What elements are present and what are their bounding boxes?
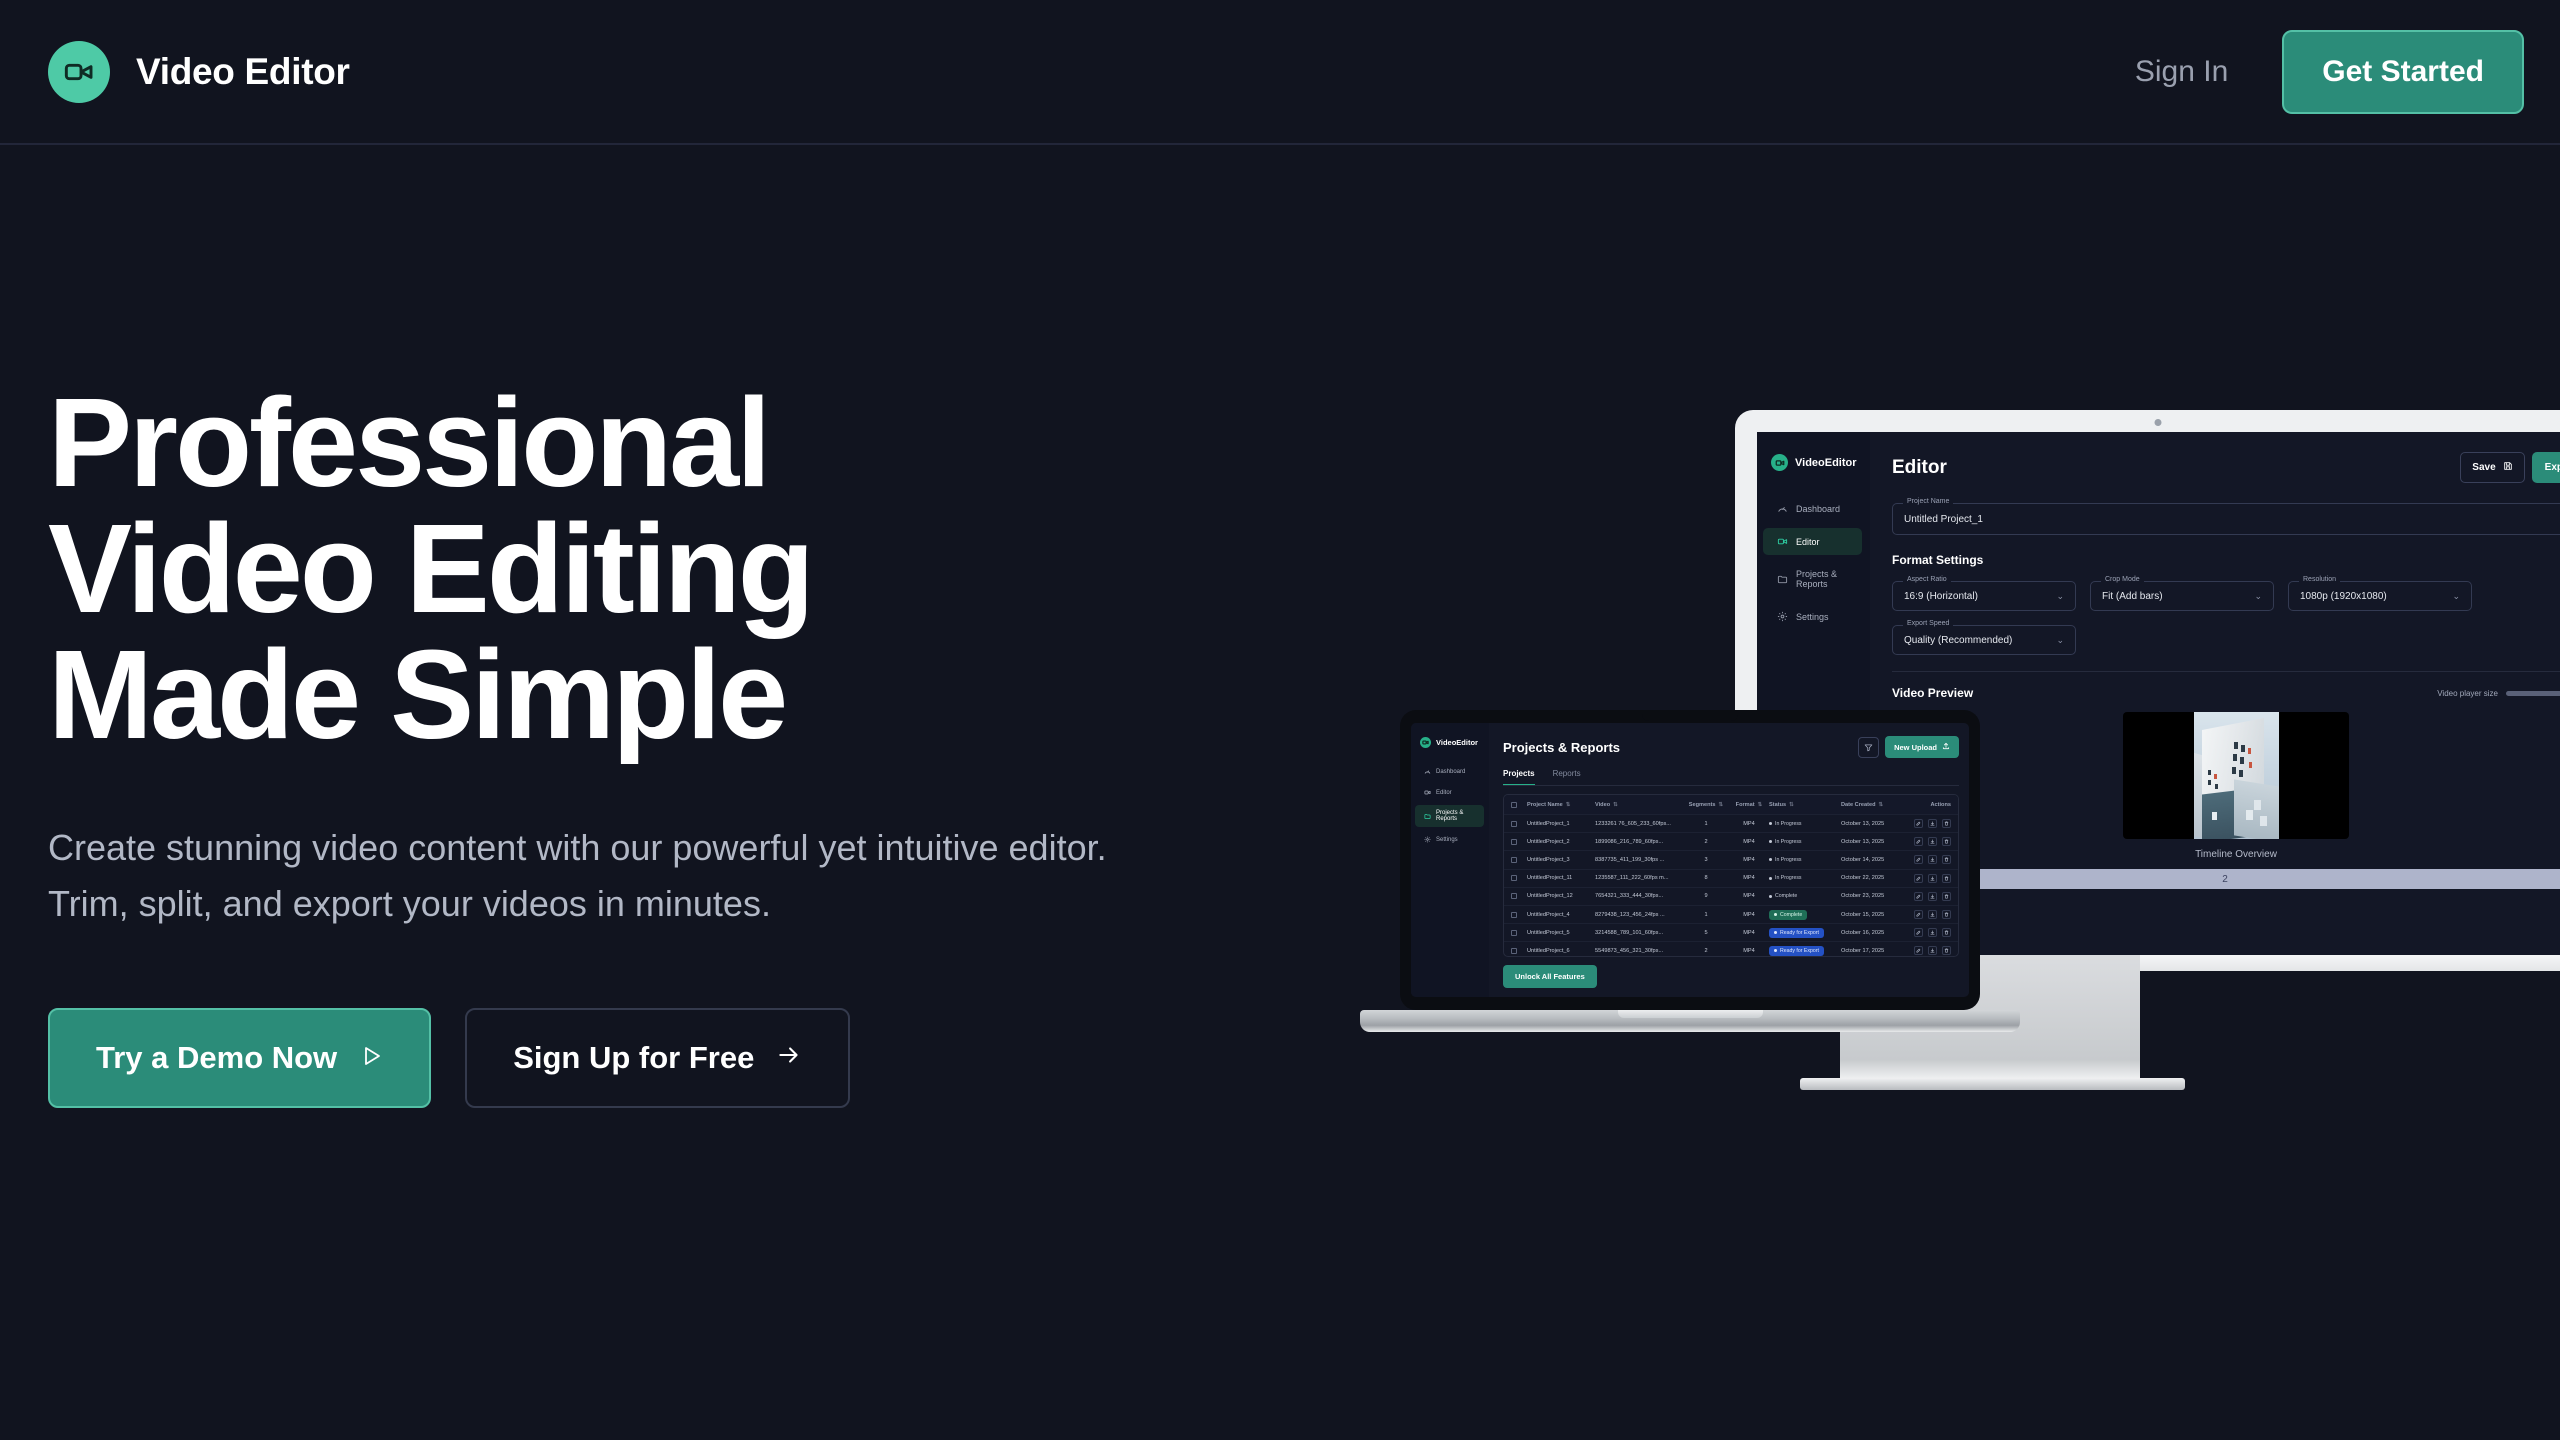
cell-video: 5549873_456_321_30fps... bbox=[1595, 948, 1683, 954]
cell-segments: 3 bbox=[1683, 857, 1729, 863]
laptop-notch bbox=[1642, 710, 1738, 721]
laptop-app-brand-label: VideoEditor bbox=[1436, 738, 1478, 747]
cell-actions bbox=[1901, 819, 1951, 828]
laptop-tabs: Projects Reports bbox=[1503, 769, 1959, 786]
cell-project-name: UntitledProject_11 bbox=[1527, 875, 1595, 881]
delete-icon[interactable] bbox=[1942, 819, 1951, 828]
delete-icon[interactable] bbox=[1942, 855, 1951, 864]
cell-segments: 2 bbox=[1683, 948, 1729, 954]
hero-subtitle: Create stunning video content with our p… bbox=[48, 820, 1108, 932]
gauge-icon bbox=[1777, 503, 1788, 514]
column-project-name[interactable]: Project Name⇅ bbox=[1527, 802, 1595, 808]
aspect-ratio-select[interactable]: Aspect Ratio 16:9 (Horizontal) ⌄ bbox=[1892, 581, 2076, 611]
gear-icon bbox=[1424, 836, 1431, 843]
row-checkbox[interactable] bbox=[1511, 948, 1527, 954]
table-row[interactable]: UntitledProject_65549873_456_321_30fps..… bbox=[1504, 942, 1958, 957]
cell-project-name: UntitledProject_1 bbox=[1527, 821, 1595, 827]
cell-status: Ready for Export bbox=[1769, 946, 1841, 956]
window bbox=[2212, 812, 2217, 820]
upload-icon bbox=[1942, 742, 1950, 752]
cell-date-created: October 13, 2025 bbox=[1841, 839, 1901, 845]
window-accent bbox=[2249, 762, 2252, 768]
status-badge: Complete bbox=[1769, 891, 1802, 901]
cell-actions bbox=[1901, 928, 1951, 937]
export-speed-value: Quality (Recommended) bbox=[1904, 635, 2012, 646]
try-demo-button[interactable]: Try a Demo Now bbox=[48, 1008, 431, 1108]
brand[interactable]: Video Editor bbox=[48, 41, 350, 103]
window bbox=[2234, 742, 2238, 749]
window bbox=[2254, 800, 2261, 810]
hero-cta-group: Try a Demo Now Sign Up for Free bbox=[48, 1008, 1128, 1108]
folder-icon bbox=[1777, 574, 1788, 585]
window bbox=[2232, 767, 2236, 774]
cell-date-created: October 14, 2025 bbox=[1841, 857, 1901, 863]
window bbox=[2240, 757, 2244, 764]
divider bbox=[1892, 671, 2560, 672]
sidebar-item-dashboard[interactable]: Dashboard bbox=[1763, 495, 1862, 522]
chevron-down-icon: ⌄ bbox=[2056, 591, 2064, 602]
header-actions: Sign In Get Started bbox=[2135, 30, 2524, 114]
delete-icon[interactable] bbox=[1942, 928, 1951, 937]
table-row[interactable]: UntitledProject_11233261 76_605_233_60fp… bbox=[1504, 815, 1958, 833]
cell-format: MP4 bbox=[1729, 893, 1769, 899]
save-button[interactable]: Save bbox=[2460, 452, 2524, 483]
video-camera-icon bbox=[1777, 536, 1788, 547]
delete-icon[interactable] bbox=[1942, 910, 1951, 919]
sidebar-label: Dashboard bbox=[1796, 504, 1840, 514]
sort-icon: ⇅ bbox=[1613, 802, 1618, 808]
cell-segments: 2 bbox=[1683, 839, 1729, 845]
save-label: Save bbox=[2472, 462, 2495, 473]
cell-date-created: October 15, 2025 bbox=[1841, 912, 1901, 918]
webcam-icon bbox=[2154, 419, 2161, 426]
laptop-sidebar: VideoEditor Dashboard Editor bbox=[1411, 723, 1489, 997]
cell-status: In Progress bbox=[1769, 819, 1841, 829]
sidebar-item-settings[interactable]: Settings bbox=[1415, 831, 1484, 848]
laptop-page-title: Projects & Reports bbox=[1503, 740, 1620, 755]
sidebar-item-projects-reports[interactable]: Projects & Reports bbox=[1415, 805, 1484, 827]
cell-segments: 8 bbox=[1683, 875, 1729, 881]
try-demo-label: Try a Demo Now bbox=[96, 1040, 337, 1076]
download-icon[interactable] bbox=[1928, 928, 1937, 937]
page-title: Professional Video Editing Made Simple bbox=[48, 380, 1128, 758]
format-settings-title: Format Settings bbox=[1892, 553, 2560, 567]
video-player-size-control[interactable]: Video player size bbox=[2437, 689, 2560, 698]
format-settings-row-2: Export Speed Quality (Recommended) ⌄ bbox=[1892, 625, 2560, 655]
status-badge: In Progress bbox=[1769, 873, 1807, 883]
cell-status: Complete bbox=[1769, 891, 1841, 901]
sort-icon: ⇅ bbox=[1719, 802, 1724, 808]
cell-date-created: October 17, 2025 bbox=[1841, 948, 1901, 954]
edit-icon[interactable] bbox=[1914, 855, 1923, 864]
sidebar-label: Dashboard bbox=[1436, 769, 1465, 775]
gauge-icon bbox=[1424, 768, 1431, 775]
cell-format: MP4 bbox=[1729, 839, 1769, 845]
window bbox=[2233, 754, 2237, 761]
table-row[interactable]: UntitledProject_48279438_123_456_24fps .… bbox=[1504, 906, 1958, 924]
tab-underline bbox=[1503, 785, 1959, 786]
format-settings-row-1: Aspect Ratio 16:9 (Horizontal) ⌄ Crop Mo… bbox=[1892, 581, 2560, 611]
cell-status: In Progress bbox=[1769, 873, 1841, 883]
laptop-header: Projects & Reports New Upload bbox=[1503, 736, 1959, 758]
export-speed-select[interactable]: Export Speed Quality (Recommended) ⌄ bbox=[1892, 625, 2076, 655]
video-preview-header: Video Preview Video player size bbox=[1892, 686, 2560, 700]
monitor-header: Editor Save Exp bbox=[1892, 452, 2560, 483]
download-icon[interactable] bbox=[1928, 892, 1937, 901]
cell-date-created: October 23, 2025 bbox=[1841, 893, 1901, 899]
select-all-checkbox[interactable] bbox=[1511, 802, 1527, 808]
video-camera-icon bbox=[1424, 789, 1431, 796]
laptop-lid: VideoEditor Dashboard Editor bbox=[1400, 710, 1980, 1010]
cell-project-name: UntitledProject_4 bbox=[1527, 912, 1595, 918]
row-checkbox[interactable] bbox=[1511, 821, 1527, 827]
preview-thumbnail-building bbox=[2194, 712, 2279, 839]
sign-up-label: Sign Up for Free bbox=[513, 1040, 754, 1076]
download-icon[interactable] bbox=[1928, 855, 1937, 864]
edit-icon[interactable] bbox=[1914, 837, 1923, 846]
laptop-header-actions: New Upload bbox=[1858, 736, 1959, 758]
window bbox=[2239, 770, 2243, 777]
cell-segments: 5 bbox=[1683, 930, 1729, 936]
cell-status: In Progress bbox=[1769, 837, 1841, 847]
cell-date-created: October 13, 2025 bbox=[1841, 821, 1901, 827]
export-button[interactable]: Exp bbox=[2532, 452, 2560, 483]
folder-icon bbox=[1424, 813, 1431, 820]
laptop-screen: VideoEditor Dashboard Editor bbox=[1411, 723, 1969, 997]
cell-status: Complete bbox=[1769, 910, 1841, 920]
sort-icon: ⇅ bbox=[1566, 802, 1571, 808]
status-badge: Ready for Export bbox=[1769, 928, 1824, 938]
column-actions: Actions bbox=[1901, 802, 1951, 808]
sidebar-item-projects-reports[interactable]: Projects & Reports bbox=[1763, 561, 1862, 597]
video-camera-icon bbox=[1771, 454, 1788, 471]
sign-up-button[interactable]: Sign Up for Free bbox=[465, 1008, 850, 1108]
status-badge: Ready for Export bbox=[1769, 946, 1824, 956]
edit-icon[interactable] bbox=[1914, 946, 1923, 955]
video-preview-title: Video Preview bbox=[1892, 686, 1973, 700]
status-badge: In Progress bbox=[1769, 819, 1807, 829]
cell-video: 1235587_111_222_60fps m... bbox=[1595, 875, 1683, 881]
row-checkbox[interactable] bbox=[1511, 912, 1527, 918]
sidebar-label: Projects & Reports bbox=[1436, 810, 1484, 822]
window-accent bbox=[2248, 748, 2251, 754]
row-checkbox[interactable] bbox=[1511, 930, 1527, 936]
delete-icon[interactable] bbox=[1942, 892, 1951, 901]
cell-format: MP4 bbox=[1729, 821, 1769, 827]
get-started-button[interactable]: Get Started bbox=[2282, 30, 2524, 114]
window bbox=[2208, 770, 2211, 775]
laptop-mockup: VideoEditor Dashboard Editor bbox=[1360, 710, 2020, 1050]
laptop-main-panel: Projects & Reports New Upload bbox=[1489, 723, 1969, 997]
window-accent bbox=[2214, 774, 2217, 779]
download-icon[interactable] bbox=[1928, 946, 1937, 955]
laptop-trackpad-notch bbox=[1618, 1010, 1763, 1018]
sidebar-item-dashboard[interactable]: Dashboard bbox=[1415, 763, 1484, 780]
sign-in-link[interactable]: Sign In bbox=[2135, 55, 2228, 89]
sort-icon: ⇅ bbox=[1879, 802, 1884, 808]
video-camera-icon bbox=[1420, 737, 1431, 748]
cell-segments: 1 bbox=[1683, 912, 1729, 918]
download-icon[interactable] bbox=[1928, 910, 1937, 919]
cell-format: MP4 bbox=[1729, 930, 1769, 936]
delete-icon[interactable] bbox=[1942, 837, 1951, 846]
edit-icon[interactable] bbox=[1914, 819, 1923, 828]
chevron-down-icon: ⌄ bbox=[2254, 591, 2262, 602]
cell-video: 8387735_411_199_30fps ... bbox=[1595, 857, 1683, 863]
status-badge: In Progress bbox=[1769, 855, 1807, 865]
sort-icon: ⇅ bbox=[1789, 802, 1794, 808]
sidebar-item-editor[interactable]: Editor bbox=[1415, 784, 1484, 801]
edit-icon[interactable] bbox=[1914, 910, 1923, 919]
tab-reports[interactable]: Reports bbox=[1553, 769, 1581, 786]
gear-icon bbox=[1777, 611, 1788, 622]
video-camera-icon bbox=[48, 41, 110, 103]
arrow-right-icon bbox=[776, 1040, 802, 1076]
table-row[interactable]: UntitledProject_53214588_789_101_60fps..… bbox=[1504, 924, 1958, 942]
play-triangle-icon bbox=[359, 1040, 383, 1076]
cell-format: MP4 bbox=[1729, 948, 1769, 954]
window bbox=[2215, 784, 2218, 789]
row-checkbox[interactable] bbox=[1511, 857, 1527, 863]
new-upload-button[interactable]: New Upload bbox=[1885, 736, 1959, 758]
resolution-value: 1080p (1920x1080) bbox=[2300, 591, 2387, 602]
monitor-base bbox=[1800, 1078, 2185, 1090]
monitor-app-brand-label: VideoEditor bbox=[1795, 457, 1857, 469]
column-format[interactable]: Format⇅ bbox=[1729, 802, 1769, 808]
chevron-down-icon: ⌄ bbox=[2056, 635, 2064, 646]
sort-icon: ⇅ bbox=[1758, 802, 1763, 808]
aspect-ratio-value: 16:9 (Horizontal) bbox=[1904, 591, 1978, 602]
monitor-app-brand: VideoEditor bbox=[1757, 454, 1870, 471]
row-checkbox[interactable] bbox=[1511, 875, 1527, 881]
edit-icon[interactable] bbox=[1914, 892, 1923, 901]
cell-project-name: UntitledProject_2 bbox=[1527, 839, 1595, 845]
projects-table: Project Name⇅ Video⇅ Segments⇅ Format⇅ S… bbox=[1503, 794, 1959, 957]
table-body: UntitledProject_11233261 76_605_233_60fp… bbox=[1504, 815, 1958, 957]
monitor-page-title: Editor bbox=[1892, 457, 1947, 479]
column-status[interactable]: Status⇅ bbox=[1769, 802, 1841, 808]
cell-format: MP4 bbox=[1729, 857, 1769, 863]
cell-actions bbox=[1901, 837, 1951, 846]
sidebar-label: Editor bbox=[1436, 790, 1452, 796]
table-row[interactable]: UntitledProject_127654321_333_444_30fps.… bbox=[1504, 888, 1958, 906]
cell-actions bbox=[1901, 855, 1951, 864]
product-mockups: VideoEditor Dashboard Editor bbox=[1360, 390, 2560, 1260]
cell-date-created: October 16, 2025 bbox=[1841, 930, 1901, 936]
row-checkbox[interactable] bbox=[1511, 839, 1527, 845]
table-row[interactable]: UntitledProject_38387735_411_199_30fps .… bbox=[1504, 851, 1958, 869]
sidebar-label: Settings bbox=[1436, 837, 1458, 843]
table-row[interactable]: UntitledProject_21899086_216_789_60fps..… bbox=[1504, 833, 1958, 851]
cell-actions bbox=[1901, 946, 1951, 955]
row-checkbox[interactable] bbox=[1511, 893, 1527, 899]
edit-icon[interactable] bbox=[1914, 874, 1923, 883]
cell-actions bbox=[1901, 892, 1951, 901]
edit-icon[interactable] bbox=[1914, 928, 1923, 937]
cell-project-name: UntitledProject_6 bbox=[1527, 948, 1595, 954]
laptop-app-brand: VideoEditor bbox=[1411, 737, 1489, 748]
chevron-down-icon: ⌄ bbox=[2452, 591, 2460, 602]
monitor-header-actions: Save Exp bbox=[2460, 452, 2560, 483]
cell-video: 3214588_789_101_60fps... bbox=[1595, 930, 1683, 936]
hero-title-line-2: Video Editing bbox=[48, 506, 1128, 632]
site-header: Video Editor Sign In Get Started bbox=[0, 0, 2560, 145]
video-preview-player[interactable] bbox=[2123, 712, 2349, 839]
brand-name: Video Editor bbox=[136, 51, 350, 93]
status-badge: Complete bbox=[1769, 910, 1807, 920]
window bbox=[2208, 780, 2211, 785]
crop-mode-value: Fit (Add bars) bbox=[2102, 591, 2163, 602]
hero-section: Professional Video Editing Made Simple C… bbox=[48, 380, 1128, 1108]
cell-project-name: UntitledProject_12 bbox=[1527, 893, 1595, 899]
cell-project-name: UntitledProject_5 bbox=[1527, 930, 1595, 936]
cell-date-created: October 22, 2025 bbox=[1841, 875, 1901, 881]
window bbox=[2260, 816, 2267, 826]
resolution-label: Resolution bbox=[2299, 576, 2340, 583]
column-date-created[interactable]: Date Created⇅ bbox=[1841, 802, 1901, 808]
status-badge: In Progress bbox=[1769, 837, 1807, 847]
table-header-row: Project Name⇅ Video⇅ Segments⇅ Format⇅ S… bbox=[1504, 795, 1958, 815]
sidebar-item-settings[interactable]: Settings bbox=[1763, 603, 1862, 630]
cell-project-name: UntitledProject_3 bbox=[1527, 857, 1595, 863]
download-icon[interactable] bbox=[1928, 874, 1937, 883]
crop-mode-label: Crop Mode bbox=[2101, 576, 2144, 583]
unlock-all-features-button[interactable]: Unlock All Features bbox=[1503, 965, 1597, 988]
column-segments[interactable]: Segments⇅ bbox=[1683, 802, 1729, 808]
resolution-select[interactable]: Resolution 1080p (1920x1080) ⌄ bbox=[2288, 581, 2472, 611]
delete-icon[interactable] bbox=[1942, 946, 1951, 955]
video-player-size-label: Video player size bbox=[2437, 689, 2498, 698]
cell-status: In Progress bbox=[1769, 855, 1841, 865]
sidebar-label: Editor bbox=[1796, 537, 1820, 547]
cell-actions bbox=[1901, 874, 1951, 883]
aspect-ratio-label: Aspect Ratio bbox=[1903, 576, 1951, 583]
cell-format: MP4 bbox=[1729, 875, 1769, 881]
cell-video: 1899086_216_789_60fps... bbox=[1595, 839, 1683, 845]
cell-video: 7654321_333_444_30fps... bbox=[1595, 893, 1683, 899]
cell-video: 8279438_123_456_24fps ... bbox=[1595, 912, 1683, 918]
project-name-field[interactable]: Project Name Untitled Project_1 bbox=[1892, 503, 2560, 535]
funnel-icon[interactable] bbox=[1858, 737, 1879, 758]
cell-actions bbox=[1901, 910, 1951, 919]
sidebar-label: Settings bbox=[1796, 612, 1829, 622]
new-upload-label: New Upload bbox=[1894, 743, 1937, 752]
hero-title-line-1: Professional bbox=[48, 380, 1128, 506]
crop-mode-select[interactable]: Crop Mode Fit (Add bars) ⌄ bbox=[2090, 581, 2274, 611]
table-row[interactable]: UntitledProject_111235587_111_222_60fps … bbox=[1504, 870, 1958, 888]
tab-projects[interactable]: Projects bbox=[1503, 769, 1535, 786]
video-player-size-slider[interactable] bbox=[2506, 691, 2560, 696]
cell-segments: 9 bbox=[1683, 893, 1729, 899]
download-icon[interactable] bbox=[1928, 837, 1937, 846]
cell-format: MP4 bbox=[1729, 912, 1769, 918]
cell-status: Ready for Export bbox=[1769, 928, 1841, 938]
sidebar-item-editor[interactable]: Editor bbox=[1763, 528, 1862, 555]
sidebar-label: Projects & Reports bbox=[1796, 569, 1862, 589]
export-speed-label: Export Speed bbox=[1903, 620, 1953, 627]
floppy-disk-icon bbox=[2503, 461, 2513, 474]
download-icon[interactable] bbox=[1928, 819, 1937, 828]
hero-title-line-3: Made Simple bbox=[48, 632, 1128, 758]
window bbox=[2241, 745, 2245, 752]
project-name-label: Project Name bbox=[1903, 498, 1953, 505]
column-video[interactable]: Video⇅ bbox=[1595, 802, 1683, 808]
project-name-value: Untitled Project_1 bbox=[1904, 514, 1983, 525]
cell-segments: 1 bbox=[1683, 821, 1729, 827]
delete-icon[interactable] bbox=[1942, 874, 1951, 883]
cell-video: 1233261 76_605_233_60fps... bbox=[1595, 821, 1683, 827]
window bbox=[2246, 810, 2253, 820]
